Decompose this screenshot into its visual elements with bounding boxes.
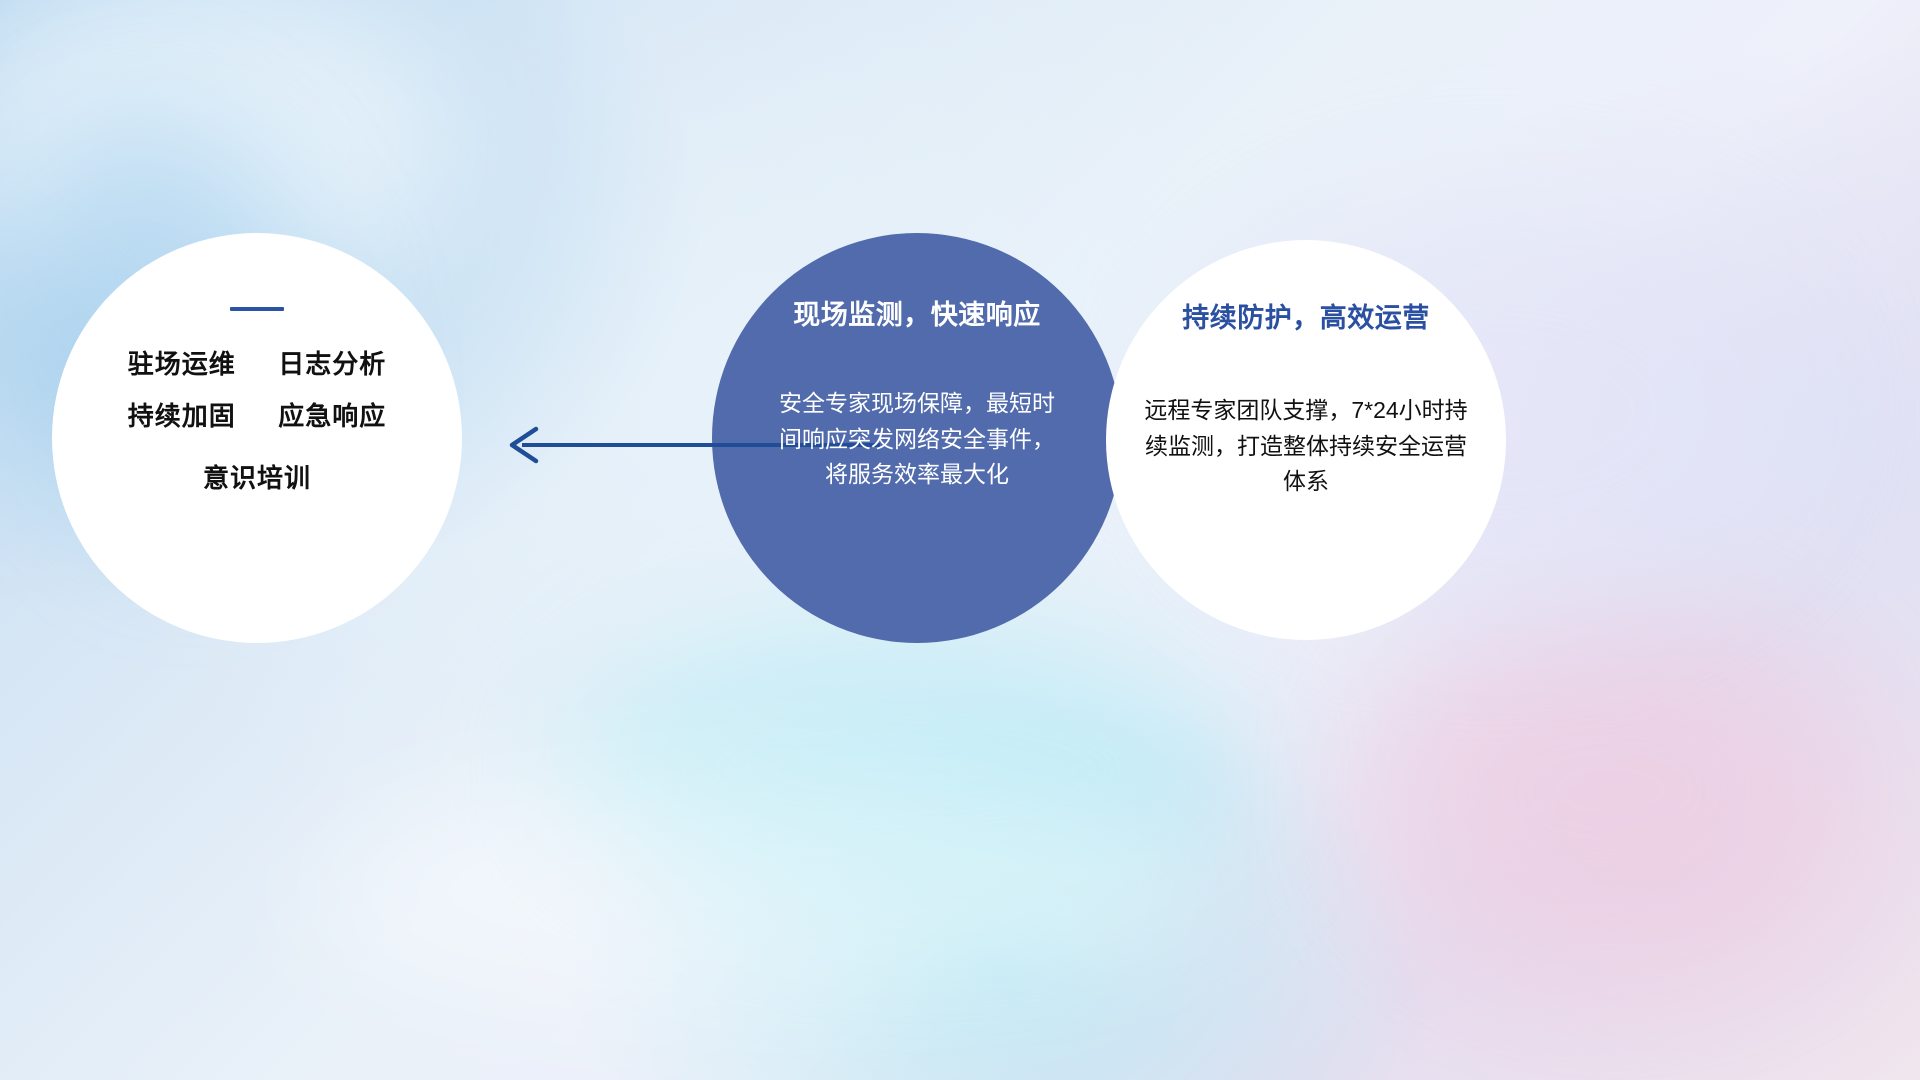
left-service-tag-3: 持续加固 [128, 401, 236, 431]
left-service-row-1: 驻场运维 日志分析 [128, 351, 387, 377]
right-circle-body: 远程专家团队支撑，7*24小时持续监测，打造整体持续安全运营体系 [1141, 393, 1471, 500]
left-service-row-3: 意识培训 [203, 465, 311, 491]
background-glow-bottom-center [560, 620, 1260, 920]
right-circle-title: 持续防护，高效运营 [1118, 296, 1494, 335]
background-glow-lower [300, 760, 1200, 1020]
right-circle-content: 持续防护，高效运营 远程专家团队支撑，7*24小时持续监测，打造整体持续安全运营… [1106, 240, 1506, 640]
middle-circle-title: 现场监测，快速响应 [728, 293, 1106, 332]
background-glow-bottom-right [1380, 620, 1840, 960]
middle-circle-content: 现场监测，快速响应 安全专家现场保障，最短时间响应突发网络安全事件，将服务效率最… [712, 233, 1122, 643]
left-service-tag-1: 驻场运维 [128, 349, 236, 379]
slide-canvas: 驻场运维 日志分析 持续加固 应急响应 意识培训 现场监测，快速响应 安全专家现… [0, 0, 1920, 1080]
left-service-tag-5: 意识培训 [203, 463, 311, 493]
left-service-tag-2: 日志分析 [278, 349, 386, 379]
divider-line [230, 307, 284, 311]
left-service-tag-4: 应急响应 [278, 401, 386, 431]
left-circle-content: 驻场运维 日志分析 持续加固 应急响应 意识培训 [52, 233, 462, 643]
left-service-row-2: 持续加固 应急响应 [128, 403, 387, 429]
middle-circle-body: 安全专家现场保障，最短时间响应突发网络安全事件，将服务效率最大化 [772, 386, 1062, 493]
